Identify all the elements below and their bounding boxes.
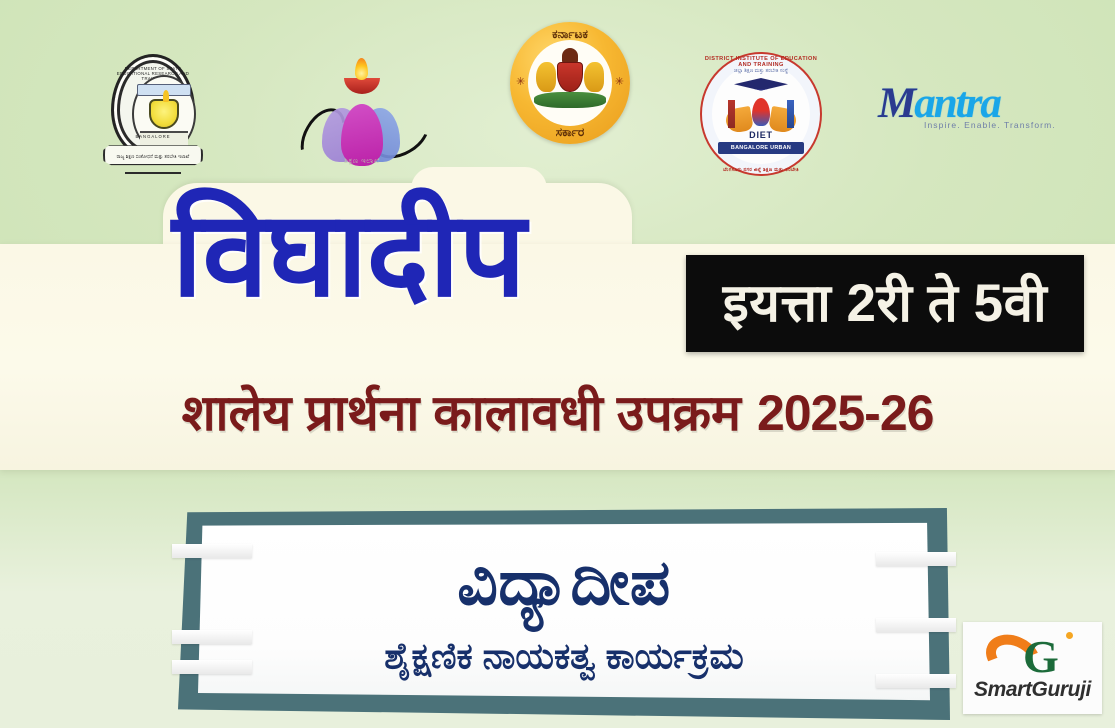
- karnataka-government-emblem: ✳ ✳ ಕರ್ನಾಟಕ ಸರ್ಕಾರ: [510, 22, 630, 144]
- dsert-logo: DEPARTMENT OF STATE EDUCATIONAL RESEARCH…: [103, 48, 203, 176]
- mantra-monogram: M: [878, 80, 914, 127]
- diet-arc-top-text: DISTRICT INSTITUTE OF EDUCATION AND TRAI…: [700, 56, 822, 68]
- kannada-board: ವಿದ್ಯಾದೀಪ ಶೈಕ್ಷಣಿಕ ನಾಯಕತ್ವ ಕಾರ್ಯಕ್ರಮ: [178, 508, 950, 720]
- emblem-star-right-icon: ✳: [615, 75, 624, 88]
- board-subtitle: ಶೈಕ್ಷಣಿಕ ನಾಯಕತ್ವ ಕಾರ್ಯಕ್ರಮ: [178, 632, 950, 680]
- emblem-scroll: [534, 92, 606, 108]
- smartguruji-watermark: G SmartGuruji: [963, 622, 1102, 714]
- smartguruji-name: SmartGuruji: [963, 678, 1102, 702]
- dsert-ribbon-banner: ರಾಜ್ಯ ಶಿಕ್ಷಣ ಸಂಶೋಧನೆ ಮತ್ತು ತರಬೇತಿ ಇಲಾಖೆ: [103, 144, 203, 166]
- smartguruji-mark: G: [985, 630, 1081, 680]
- subtitle: शालेय प्रार्थना कालावधी उपक्रम2025-26: [0, 382, 1115, 444]
- diya-lamp-icon: [344, 78, 380, 94]
- emblem-lion-right: [584, 62, 604, 92]
- class-range-text: इयत्ता 2री ते 5वी: [723, 274, 1048, 334]
- pencil-icon: [728, 100, 735, 128]
- pen-icon: [787, 100, 794, 128]
- mantra-tagline: Inspire. Enable. Transform.: [924, 120, 1063, 130]
- mantra-logo: Mantra Inspire. Enable. Transform.: [878, 82, 1063, 144]
- g-letter-icon: G: [1023, 634, 1059, 680]
- vidyadeep-lamp-logo: ಶಿಕ್ಷಣ ಇಲಾಖೆ: [302, 52, 422, 180]
- dsert-crest-shape: DEPARTMENT OF STATE EDUCATIONAL RESEARCH…: [111, 54, 195, 158]
- logo-strip: DEPARTMENT OF STATE EDUCATIONAL RESEARCH…: [0, 0, 1115, 185]
- diet-district-bar: BANGALORE URBAN: [718, 142, 804, 154]
- dsert-lamp-icon: [149, 99, 179, 129]
- diet-flame-icon: [752, 98, 770, 126]
- diet-arc-bottom-text: ಬೆಂಗಳೂರು ನಗರ ಜಿಲ್ಲೆ ಶಿಕ್ಷಣ ಮತ್ತು ತರಬೇತಿ: [700, 167, 822, 172]
- swoosh-dot-icon: [1066, 632, 1073, 639]
- diet-district-text: BANGALORE URBAN: [718, 142, 804, 154]
- emblem-lion-left: [536, 62, 556, 92]
- dsert-ribbon-tail: [125, 164, 181, 174]
- emblem-text-top: ಕರ್ನಾಟಕ: [510, 27, 630, 42]
- board-title: ವಿದ್ಯಾದೀಪ: [178, 544, 950, 622]
- emblem-star-left-icon: ✳: [516, 75, 525, 88]
- subtitle-text: शालेय प्रार्थना कालावधी उपक्रम: [182, 385, 741, 441]
- diet-arc-kannada-text: ಜಿಲ್ಲಾ ಶಿಕ್ಷಣ ಮತ್ತು ತರಬೇತಿ ಸಂಸ್ಥೆ: [700, 68, 822, 74]
- dsert-arc-bottom-text: BANGALORE: [114, 134, 192, 139]
- diet-acronym: DIET: [700, 130, 822, 140]
- lamp-logo-caption: ಶಿಕ್ಷಣ ಇಲಾಖೆ: [302, 156, 422, 167]
- class-range-badge: इयत्ता 2री ते 5वी: [686, 255, 1084, 352]
- diet-bangalore-urban-logo: DISTRICT INSTITUTE OF EDUCATION AND TRAI…: [700, 52, 822, 176]
- emblem-text-bottom: ಸರ್ಕಾರ: [510, 125, 630, 140]
- page-title: विघादीप: [172, 190, 525, 320]
- academic-year: 2025-26: [757, 385, 934, 441]
